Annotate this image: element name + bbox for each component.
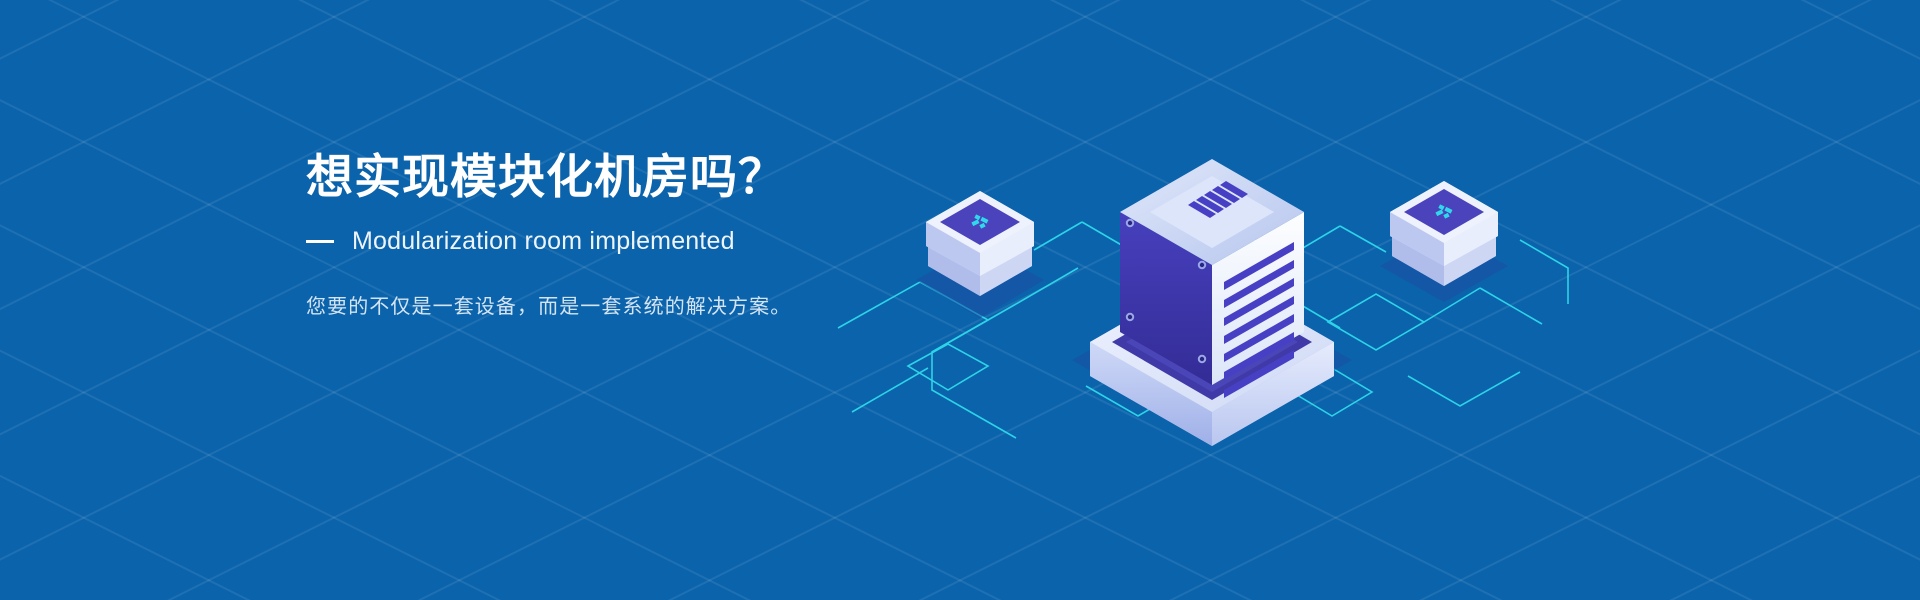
dash-accent-icon: [306, 240, 334, 243]
subtitle-text: Modularization room implemented: [352, 227, 735, 256]
isometric-datacenter-illustration: [820, 60, 1620, 460]
hero-banner: 想实现模块化机房吗？ Modularization room implement…: [0, 0, 1920, 600]
screw-icon: [1126, 313, 1134, 321]
screw-icon: [1198, 355, 1206, 363]
screw-icon: [1126, 219, 1134, 227]
server-tower: [1090, 159, 1334, 446]
screw-icon: [1198, 261, 1206, 269]
